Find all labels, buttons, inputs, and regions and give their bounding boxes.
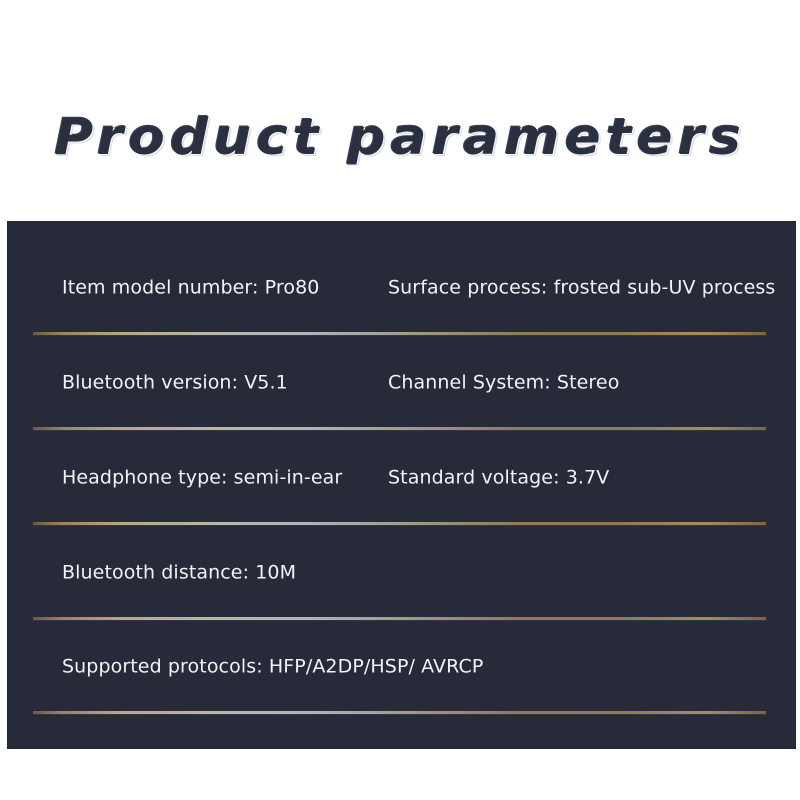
row-cells: Bluetooth distance: 10M (8, 525, 795, 620)
table-row: Headphone type: semi-in-ear Standard vol… (8, 430, 795, 525)
title-area: Product parameters (0, 96, 800, 178)
row-cells: Item model number: Pro80 Surface process… (8, 240, 795, 335)
table-row: Supported protocols: HFP/A2DP/HSP/ AVRCP (8, 619, 795, 714)
spec-cell-right: Standard voltage: 3.7V (388, 466, 609, 489)
spec-cell-left: Supported protocols: HFP/A2DP/HSP/ AVRCP (62, 655, 483, 678)
row-cells: Headphone type: semi-in-ear Standard vol… (8, 430, 795, 525)
page-title: Product parameters (54, 108, 746, 166)
table-row: Bluetooth distance: 10M (8, 525, 795, 620)
spec-cell-right: Surface process: frosted sub-UV process (388, 276, 775, 299)
row-cells: Bluetooth version: V5.1 Channel System: … (8, 335, 795, 430)
spec-cell-left: Item model number: Pro80 (62, 276, 319, 299)
spec-cell-right: Channel System: Stereo (388, 371, 619, 394)
row-divider (33, 711, 766, 714)
spec-cell-left: Headphone type: semi-in-ear (62, 466, 342, 489)
spec-cell-left: Bluetooth version: V5.1 (62, 371, 288, 394)
product-parameters-page: Product parameters Item model number: Pr… (0, 0, 800, 800)
spec-cell-left: Bluetooth distance: 10M (62, 561, 296, 584)
table-row: Item model number: Pro80 Surface process… (8, 240, 795, 335)
specification-panel: Item model number: Pro80 Surface process… (8, 222, 795, 748)
row-cells: Supported protocols: HFP/A2DP/HSP/ AVRCP (8, 619, 795, 714)
table-row: Bluetooth version: V5.1 Channel System: … (8, 335, 795, 430)
